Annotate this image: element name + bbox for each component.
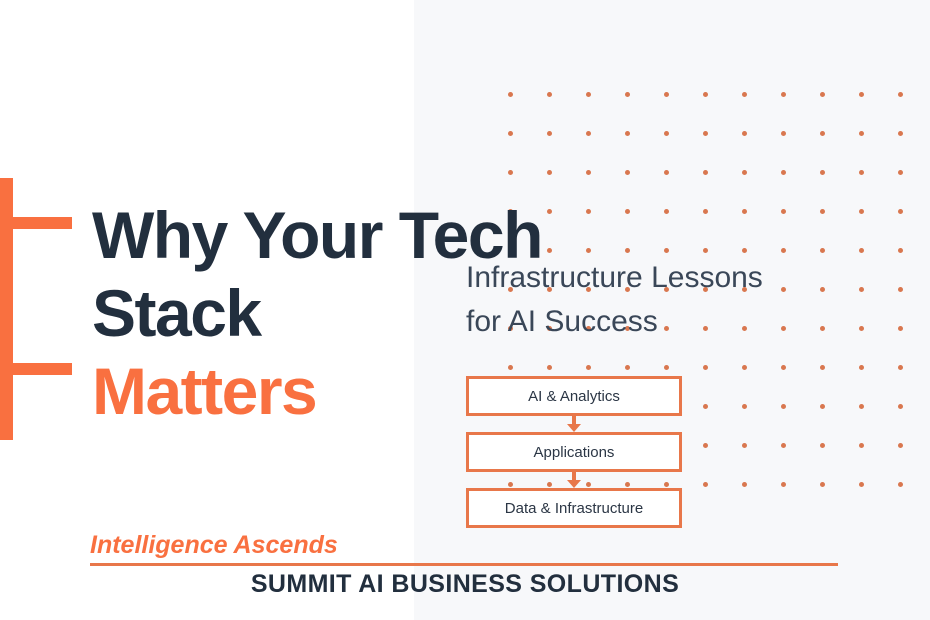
- decor-dot: [898, 248, 903, 253]
- decor-dot: [898, 92, 903, 97]
- decor-dot: [898, 287, 903, 292]
- decor-dot: [781, 482, 786, 487]
- decor-dot: [859, 170, 864, 175]
- slide-canvas: Why Your Tech Stack Matters Infrastructu…: [0, 0, 930, 620]
- decor-dot: [820, 365, 825, 370]
- decor-dot: [898, 209, 903, 214]
- tech-stack-diagram: AI & Analytics Applications Data & Infra…: [466, 376, 682, 528]
- decor-dot: [898, 482, 903, 487]
- decor-dot: [859, 131, 864, 136]
- footer-divider: [90, 563, 838, 566]
- stack-arrow-1: [466, 416, 682, 432]
- stack-box-data-infrastructure: Data & Infrastructure: [466, 488, 682, 528]
- decor-dot: [547, 92, 552, 97]
- decor-dot: [703, 92, 708, 97]
- decor-dot: [625, 92, 630, 97]
- decor-dot: [547, 170, 552, 175]
- decor-dot: [508, 92, 513, 97]
- decor-dot: [586, 92, 591, 97]
- decor-dot: [898, 131, 903, 136]
- decor-dot: [781, 209, 786, 214]
- stack-box-label: Data & Infrastructure: [505, 500, 643, 517]
- decor-dot: [898, 404, 903, 409]
- decor-dot: [742, 365, 747, 370]
- decor-dot: [781, 404, 786, 409]
- decor-dot: [859, 443, 864, 448]
- decor-dot: [781, 131, 786, 136]
- stack-arrow-2: [466, 472, 682, 488]
- decor-dot: [742, 248, 747, 253]
- decor-dot: [703, 248, 708, 253]
- decor-dot: [703, 404, 708, 409]
- bracket-arm-top: [0, 217, 72, 229]
- decor-dot: [859, 209, 864, 214]
- decor-dot: [820, 131, 825, 136]
- decor-dot: [742, 404, 747, 409]
- decor-dot: [781, 365, 786, 370]
- decor-dot: [586, 170, 591, 175]
- decor-dot: [781, 170, 786, 175]
- decor-dot: [742, 209, 747, 214]
- decor-dot: [859, 365, 864, 370]
- decor-dot: [820, 92, 825, 97]
- subtitle-line-2: for AI Success: [466, 300, 886, 344]
- stack-box-label: Applications: [534, 444, 615, 461]
- decor-dot: [820, 443, 825, 448]
- decor-dot: [547, 131, 552, 136]
- decor-dot: [703, 170, 708, 175]
- decor-dot: [508, 131, 513, 136]
- stack-box-label: AI & Analytics: [528, 388, 620, 405]
- decor-dot: [859, 482, 864, 487]
- bracket-arm-bottom: [0, 363, 72, 375]
- subtitle-line-1: Infrastructure Lessons: [466, 256, 886, 300]
- arrow-down-icon: [567, 480, 581, 488]
- decor-dot: [898, 170, 903, 175]
- decor-dot: [742, 92, 747, 97]
- decor-dot: [898, 326, 903, 331]
- decor-dot: [586, 131, 591, 136]
- decor-dot: [859, 92, 864, 97]
- decor-dot: [820, 248, 825, 253]
- decor-dot: [898, 365, 903, 370]
- tagline: Intelligence Ascends: [90, 531, 338, 560]
- decor-dot: [820, 404, 825, 409]
- decor-dot: [742, 170, 747, 175]
- decor-dot: [742, 482, 747, 487]
- decor-dot: [820, 170, 825, 175]
- decor-dot: [859, 248, 864, 253]
- decor-dot: [664, 92, 669, 97]
- decor-dot: [742, 443, 747, 448]
- decor-dot: [781, 248, 786, 253]
- decor-dot: [820, 209, 825, 214]
- stack-box-applications: Applications: [466, 432, 682, 472]
- decor-dot: [898, 443, 903, 448]
- decor-dot: [781, 443, 786, 448]
- decor-dot: [703, 443, 708, 448]
- decor-dot: [781, 92, 786, 97]
- stack-box-ai-analytics: AI & Analytics: [466, 376, 682, 416]
- decor-dot: [703, 209, 708, 214]
- company-name: SUMMIT AI BUSINESS SOLUTIONS: [0, 570, 930, 599]
- decor-dot: [625, 131, 630, 136]
- decor-dot: [859, 404, 864, 409]
- subtitle: Infrastructure Lessons for AI Success: [466, 256, 886, 344]
- decor-dot: [820, 482, 825, 487]
- decor-dot: [664, 131, 669, 136]
- decor-dot: [625, 170, 630, 175]
- decor-dot: [664, 170, 669, 175]
- decor-dot: [703, 482, 708, 487]
- arrow-down-icon: [567, 424, 581, 432]
- decor-dot: [703, 131, 708, 136]
- decor-dot: [742, 131, 747, 136]
- decor-dot: [703, 365, 708, 370]
- decor-dot: [508, 170, 513, 175]
